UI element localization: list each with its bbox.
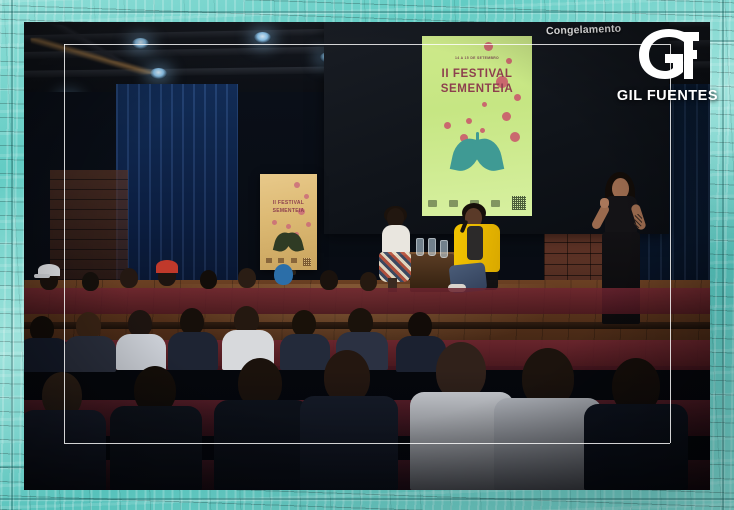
audience-shoulders (64, 336, 116, 372)
festival-slide: 14 A 15 DE SETEMBRO II FESTIVAL SEMENTEI… (422, 36, 532, 216)
audience-shoulders (300, 396, 398, 490)
audience-head (360, 272, 377, 291)
slide-title-line-2: SEMENTEIA (422, 83, 532, 95)
sponsor-logo-icon (428, 200, 437, 207)
slide-title-line-1: II FESTIVAL (422, 68, 532, 80)
ceiling-spotlight (132, 38, 149, 49)
audience-head (320, 270, 338, 290)
qr-code-icon (512, 196, 526, 210)
watermark: GIL FUENTES (617, 26, 718, 104)
audience-head (128, 310, 152, 337)
audience-head (200, 270, 217, 289)
audience-shoulders (110, 406, 202, 490)
slide-date: 14 A 15 DE SETEMBRO (422, 56, 532, 60)
audience-head-blue-hair (274, 264, 293, 285)
event-photograph: Congelamento 14 A 15 DE SETEMBRO II FEST… (24, 22, 710, 490)
audience-shoulders (24, 410, 106, 490)
banner-title-line-2: SEMENTEIA (260, 208, 317, 214)
audience-shoulders (168, 332, 218, 370)
audience-shoulders (116, 334, 166, 370)
audience-head (82, 272, 99, 291)
projection-overlay-text: Congelamento (546, 23, 622, 38)
audience-shoulders (280, 334, 330, 370)
watermark-name: GIL FUENTES (617, 88, 718, 104)
audience-head (120, 268, 138, 288)
banner-leaf-icon (285, 230, 304, 253)
audience (24, 254, 710, 490)
gf-monogram-icon (617, 26, 718, 87)
photo-card: Congelamento 14 A 15 DE SETEMBRO II FEST… (0, 0, 734, 510)
ceiling-spotlight (254, 32, 271, 43)
audience-shoulders (584, 404, 688, 490)
audience-shoulders (214, 400, 310, 490)
audience-head (238, 268, 256, 288)
audience-head (180, 308, 204, 335)
audience-head (292, 310, 316, 337)
audience-head (408, 312, 432, 339)
audience-beanie (156, 260, 178, 273)
ceiling-spotlight (150, 68, 167, 79)
banner-title-line-1: II FESTIVAL (260, 200, 317, 206)
